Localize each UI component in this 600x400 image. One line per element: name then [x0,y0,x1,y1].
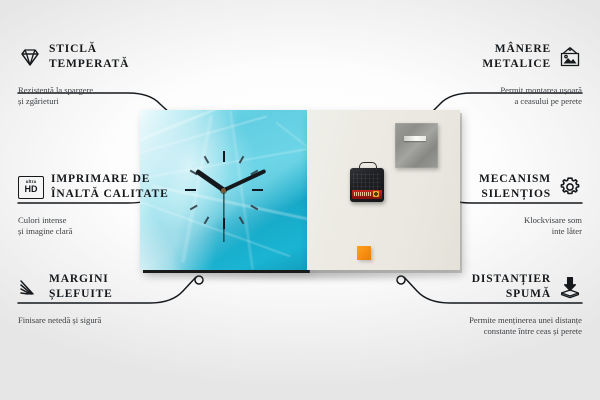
callout-title-line2: ÎNALTĂ CALITATE [51,187,169,202]
ultra-hd-icon: ultra HD [18,176,44,199]
callout-sub-line1: Rezistentă la spargere [18,85,129,96]
callout-distantier-spuma: DISTANȚIER SPUMĂ Permite menținerea unei… [469,272,582,338]
callout-title-line1: MÂNERE [482,42,551,57]
callout-imprimare-calitate: ultra HD IMPRIMARE DE ÎNALTĂ CALITATE Cu… [18,172,169,238]
callout-sub-line2: inte låter [479,226,582,237]
callout-title-line2: ȘLEFUITE [49,287,113,302]
clock-second-hand [223,190,224,242]
callout-margini-slefuite: MARGINI ȘLEFUITE Finisare netedă și sigu… [18,272,113,326]
callout-title-line1: IMPRIMARE DE [51,172,169,187]
gear-icon [558,175,582,199]
callout-title-line1: MECANISM [479,172,551,187]
callout-title-line2: METALICE [482,57,551,72]
infographic-canvas: STICLĂ TEMPERATĂ Rezistentă la spargere … [0,0,600,400]
callout-title-line2: SPUMĂ [472,287,551,302]
callout-title-line1: DISTANȚIER [472,272,551,287]
metal-hanger-part [395,123,438,168]
callout-sub-line2: constante între ceas și perete [469,326,582,337]
clock-back-panel [307,110,460,270]
product-image [140,110,460,270]
callout-title-line1: MARGINI [49,272,113,287]
product-shadow [150,268,450,282]
callout-sub-line2: și imagine clară [18,226,169,237]
picture-frame-icon [558,45,582,69]
callout-sub-line1: Finisare netedă și sigură [18,315,113,326]
diamond-icon [18,45,42,69]
callout-sub-line1: Permit montarea ușoară [482,85,582,96]
clock-center-cap [221,188,226,193]
callout-sticla-temperata: STICLĂ TEMPERATĂ Rezistentă la spargere … [18,42,129,108]
ultra-hd-icon-main-label: HD [25,185,38,194]
callout-title-line2: TEMPERATĂ [49,57,129,72]
callout-sub-line1: Permite menținerea unei distanțe [469,315,582,326]
callout-manere-metalice: MÂNERE METALICE Permit montarea ușoară a… [482,42,582,108]
callout-mecanism-silentios: MECANISM SILENȚIOS Klockvisare som inte … [479,172,582,238]
callout-sub-line1: Culori intense [18,215,169,226]
foam-spacer-part [357,246,371,260]
arrow-down-layers-icon [558,275,582,299]
callout-sub-line2: și zgârieturi [18,96,129,107]
callout-sub-line1: Klockvisare som [479,215,582,226]
diagonal-lines-icon [18,275,42,299]
callout-sub-line2: a ceasului pe perete [482,96,582,107]
callout-title-line1: STICLĂ [49,42,129,57]
battery-part [352,190,382,199]
quartz-mechanism-part [350,168,384,202]
callout-title-line2: SILENȚIOS [479,187,551,202]
